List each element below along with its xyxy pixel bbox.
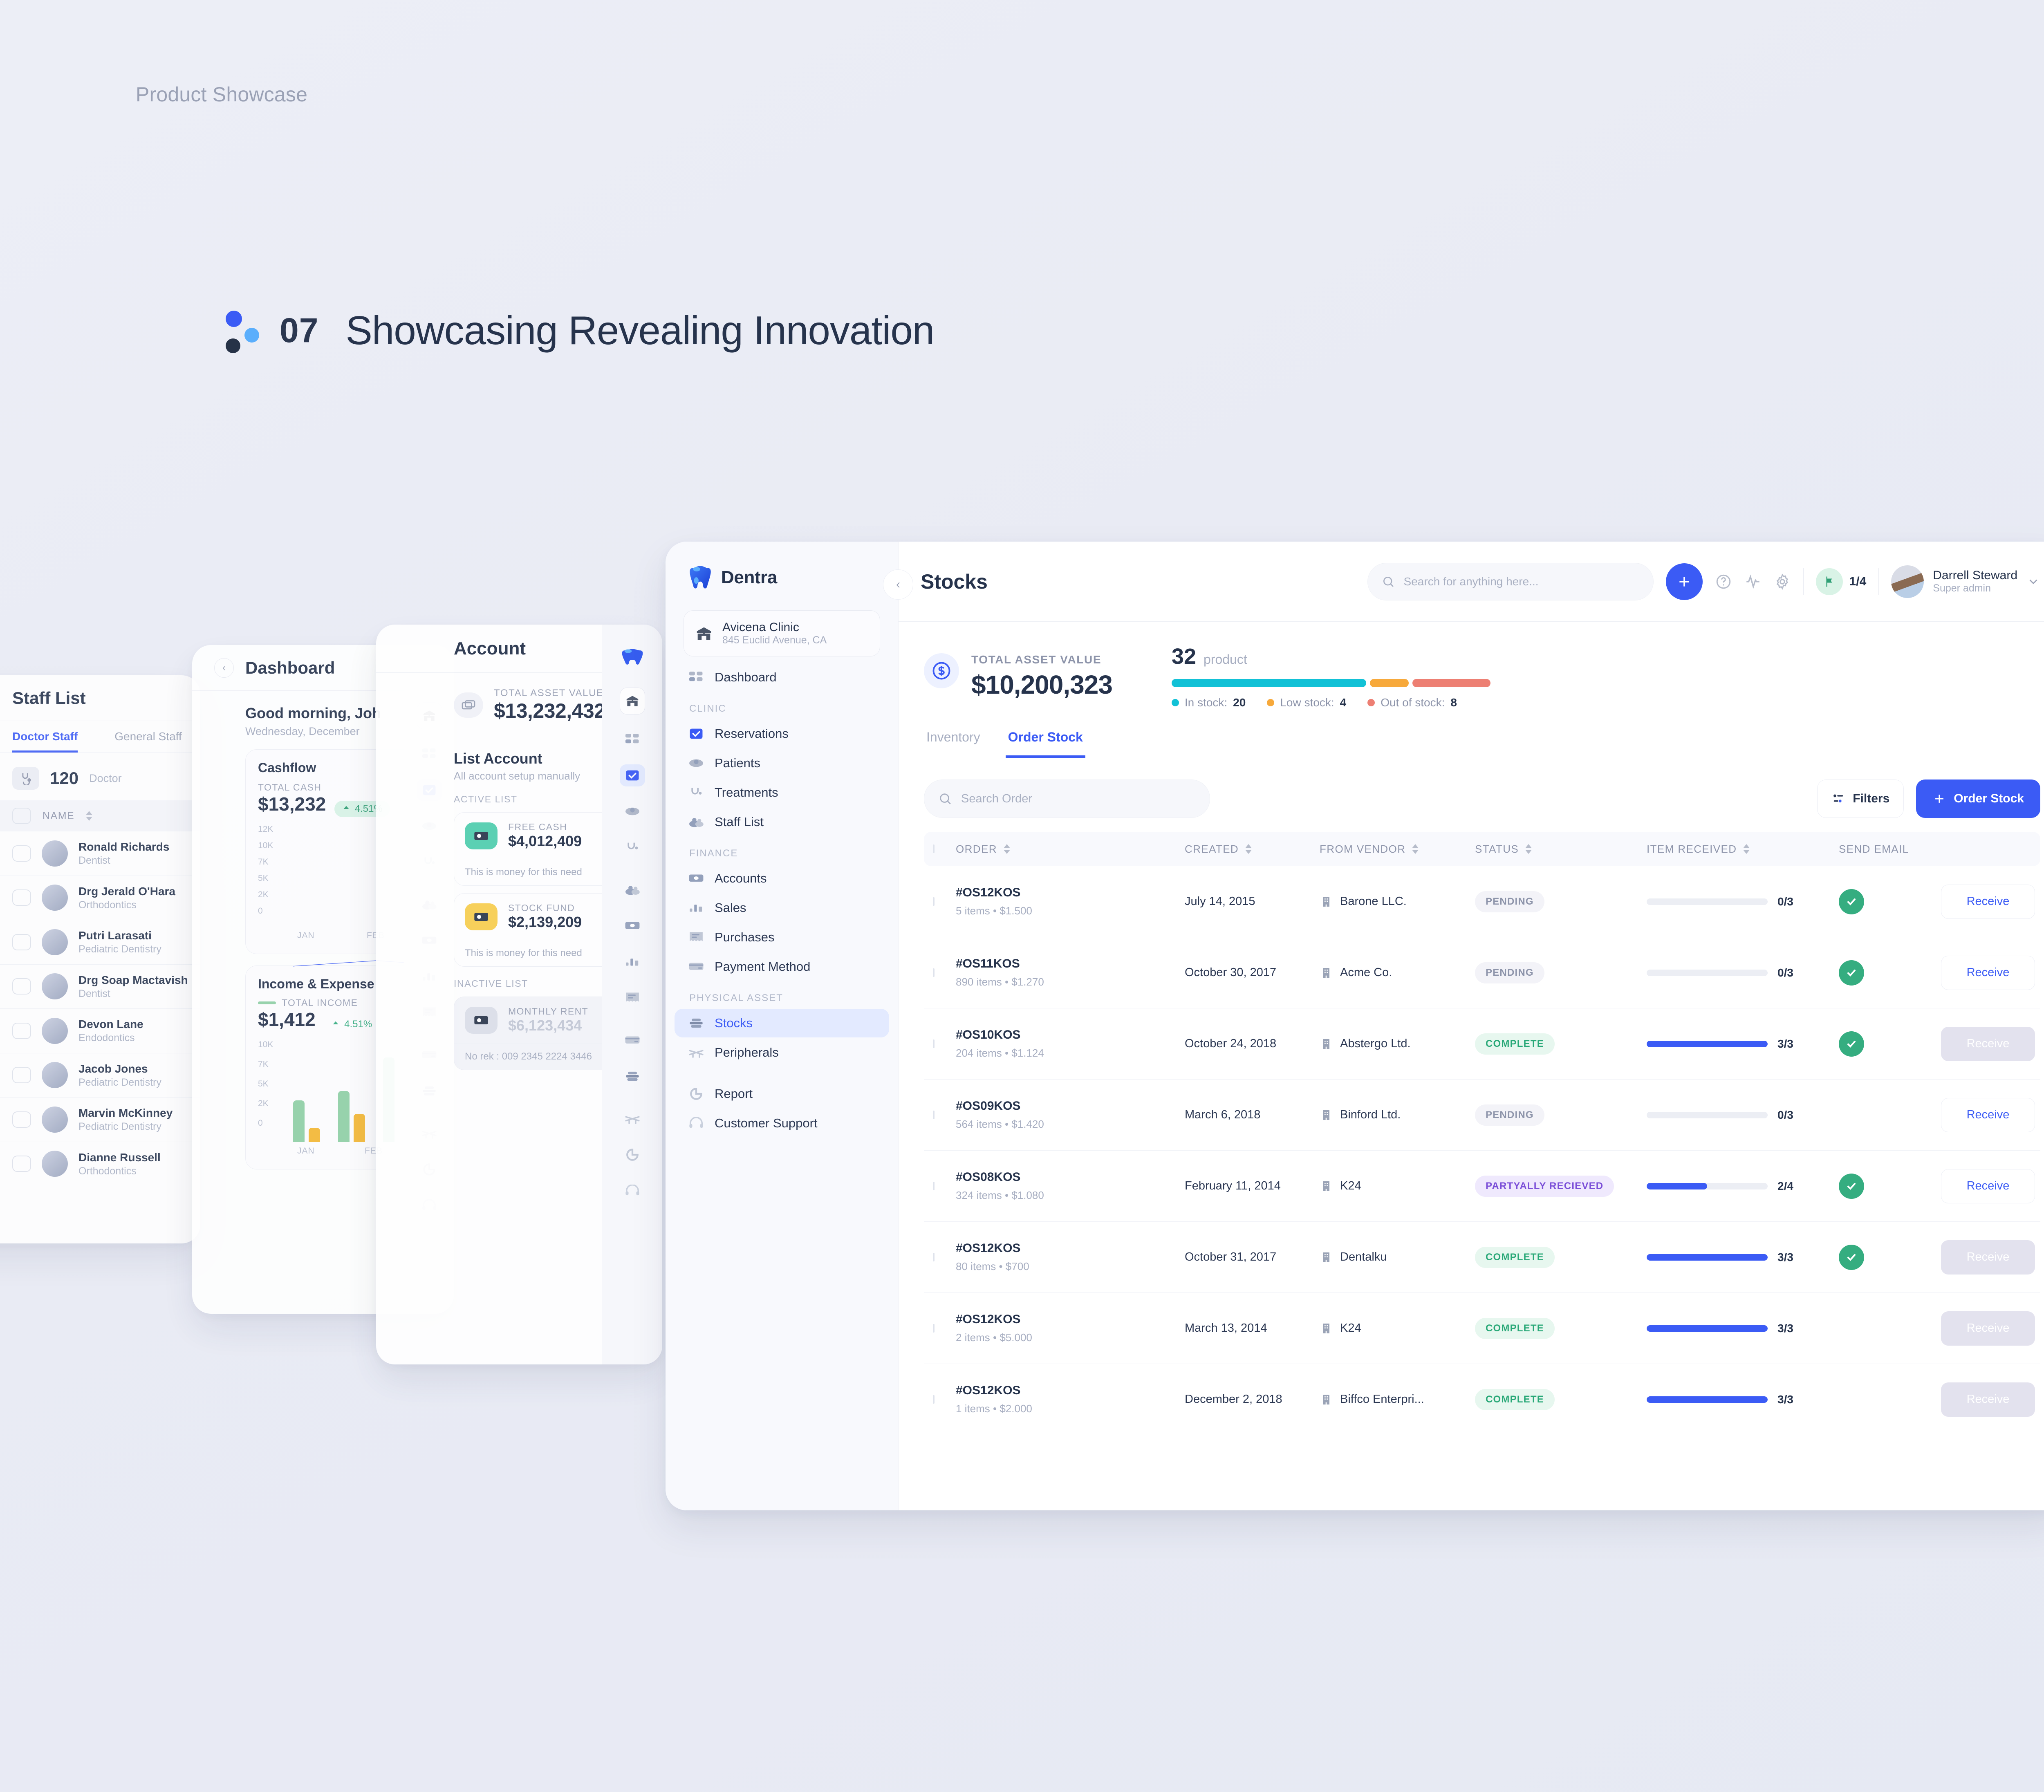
progress-bar bbox=[1647, 970, 1768, 976]
sidebar-item-reservations[interactable]: Reservations bbox=[675, 719, 889, 748]
gear-icon[interactable] bbox=[1774, 573, 1791, 590]
order-search-placeholder: Search Order bbox=[961, 792, 1032, 806]
sidebar-item-label: Staff List bbox=[715, 815, 764, 829]
staff-role: Dentist bbox=[78, 855, 110, 866]
stethoscope-icon bbox=[688, 786, 704, 800]
row-checkbox[interactable] bbox=[933, 1395, 935, 1404]
bar-expense bbox=[354, 1114, 365, 1142]
staff-row[interactable]: Drg Jerald O'Hara Orthodontics bbox=[0, 876, 200, 921]
progress-bar bbox=[1647, 1254, 1768, 1261]
orders-table: ORDER CREATED FROM VENDOR STATUS ITEM RE… bbox=[899, 832, 2044, 1510]
table-row[interactable]: #OS12KOS 2 items • $5.000 March 13, 2014… bbox=[924, 1293, 2040, 1364]
row-checkbox[interactable] bbox=[933, 968, 935, 977]
rail-people-icon[interactable] bbox=[620, 879, 645, 901]
cell-status: COMPLETE bbox=[1475, 1389, 1647, 1410]
cell-created: March 13, 2014 bbox=[1185, 1322, 1320, 1335]
activity-icon[interactable] bbox=[1744, 573, 1762, 590]
topbar-actions: Search for anything here... 1/4 bbox=[1367, 563, 2040, 600]
table-row[interactable]: #OS10KOS 204 items • $1.124 October 24, … bbox=[924, 1008, 2040, 1080]
progress-text: 0/3 bbox=[1777, 1109, 1793, 1122]
column-send-email: SEND EMAIL bbox=[1839, 843, 1941, 856]
column-status[interactable]: STATUS bbox=[1475, 843, 1647, 856]
user-menu[interactable]: Darrell Steward Super admin bbox=[1891, 565, 2040, 598]
staff-card-header: Staff List bbox=[0, 675, 200, 721]
bar-group bbox=[338, 1091, 365, 1142]
legend-value: 4 bbox=[1340, 696, 1347, 709]
rail-dashboard-icon[interactable] bbox=[620, 728, 645, 750]
dollar-circle-icon bbox=[924, 653, 959, 688]
cell-order: #OS12KOS 5 items • $1.500 bbox=[956, 886, 1185, 917]
progress-bar bbox=[1647, 1325, 1768, 1332]
product-unit: product bbox=[1204, 652, 1247, 667]
cell-created: March 6, 2018 bbox=[1185, 1108, 1320, 1122]
brand-dots-icon bbox=[224, 308, 262, 353]
stock-segment bbox=[1172, 679, 1366, 687]
row-checkbox[interactable] bbox=[12, 1023, 31, 1039]
avatar bbox=[42, 840, 68, 867]
legend-dot-icon bbox=[1172, 699, 1179, 706]
progress-text: 3/3 bbox=[1777, 1393, 1793, 1406]
sidebar-item-sales[interactable]: Sales bbox=[675, 894, 889, 922]
staff-row[interactable]: Putri Larasati Pediatric Dentistry bbox=[0, 920, 200, 965]
column-order[interactable]: ORDER bbox=[956, 843, 1185, 856]
row-checkbox[interactable] bbox=[933, 1253, 935, 1261]
pie-chart-icon bbox=[688, 1087, 704, 1101]
staff-count: 120 Doctor bbox=[0, 753, 200, 800]
receive-button[interactable]: Receive bbox=[1941, 1311, 2035, 1346]
select-all-checkbox[interactable] bbox=[12, 808, 31, 824]
vendor-name: Binford Ltd. bbox=[1340, 1108, 1401, 1122]
sidebar-nav: Dashboard CLINIC Reservations Patients T… bbox=[666, 662, 898, 1510]
cell-vendor: Dentalku bbox=[1320, 1250, 1475, 1264]
rail-credit-card-icon[interactable] bbox=[620, 1029, 645, 1051]
product-stats: 32 product In stock: 20 Low stock: 4 Out… bbox=[1142, 644, 1490, 709]
order-id: #OS12KOS bbox=[956, 886, 1185, 900]
y-tick: 5K bbox=[258, 874, 269, 883]
tab-order-stock[interactable]: Order Stock bbox=[1006, 726, 1085, 758]
row-checkbox[interactable] bbox=[933, 1111, 935, 1119]
cell-order: #OS11KOS 890 items • $1.270 bbox=[956, 957, 1185, 988]
cell-status: COMPLETE bbox=[1475, 1318, 1647, 1339]
table-header-row: ORDER CREATED FROM VENDOR STATUS ITEM RE… bbox=[924, 832, 2040, 866]
staff-name: Devon Lane bbox=[78, 1018, 143, 1030]
cell-created: October 31, 2017 bbox=[1185, 1250, 1320, 1264]
person-icon bbox=[688, 756, 704, 770]
row-checkbox[interactable] bbox=[12, 889, 31, 906]
cell-send-email bbox=[1839, 960, 1941, 986]
cell-item-received: 3/3 bbox=[1647, 1393, 1839, 1406]
avatar bbox=[42, 1107, 68, 1133]
stock-legend-item: Low stock: 4 bbox=[1267, 696, 1346, 709]
rail-box-icon[interactable] bbox=[620, 1065, 645, 1087]
flag-counter[interactable]: 1/4 bbox=[1816, 568, 1867, 595]
cell-created: February 11, 2014 bbox=[1185, 1179, 1320, 1193]
nav-divider bbox=[666, 1076, 898, 1076]
total-asset-label: TOTAL ASSET VALUE bbox=[971, 653, 1101, 666]
receive-button[interactable]: Receive bbox=[1941, 1098, 2035, 1132]
income-value: $1,412 bbox=[258, 1009, 316, 1030]
table-row[interactable]: #OS12KOS 1 items • $2.000 December 2, 20… bbox=[924, 1364, 2040, 1435]
order-sub: 204 items • $1.124 bbox=[956, 1047, 1185, 1060]
status-badge: PENDING bbox=[1475, 891, 1544, 912]
y-tick: 10K bbox=[258, 1040, 273, 1050]
calendar-check-icon bbox=[688, 727, 704, 741]
row-checkbox[interactable] bbox=[12, 1111, 31, 1128]
cell-created: December 2, 2018 bbox=[1185, 1393, 1320, 1406]
cell-item-received: 0/3 bbox=[1647, 895, 1839, 908]
progress-text: 3/3 bbox=[1777, 1251, 1793, 1264]
sidebar-item-patients[interactable]: Patients bbox=[675, 749, 889, 777]
nav-section-label: FINANCE bbox=[666, 837, 898, 863]
building-icon bbox=[1320, 1109, 1333, 1122]
staff-row[interactable]: Dianne Russell Orthodontics bbox=[0, 1142, 200, 1187]
row-checkbox[interactable] bbox=[12, 845, 31, 862]
sidebar-item-label: Peripherals bbox=[715, 1045, 779, 1060]
clinic-selector[interactable]: Avicena Clinic 845 Euclid Avenue, CA bbox=[684, 610, 880, 656]
legend-dot-icon bbox=[1367, 699, 1375, 706]
sort-icon[interactable] bbox=[1004, 844, 1010, 854]
staff-role: Endodontics bbox=[78, 1032, 135, 1044]
plus-icon bbox=[1932, 792, 1946, 806]
email-sent-check-icon bbox=[1839, 1245, 1864, 1270]
staff-row[interactable]: Devon Lane Endodontics bbox=[0, 1009, 200, 1053]
cell-item-received: 3/3 bbox=[1647, 1322, 1839, 1335]
table-row[interactable]: #OS11KOS 890 items • $1.270 October 30, … bbox=[924, 937, 2040, 1008]
vendor-name: Dentalku bbox=[1340, 1250, 1387, 1264]
sidebar-item-label: Sales bbox=[715, 900, 746, 915]
staff-role: Pediatric Dentistry bbox=[78, 1077, 161, 1088]
account-card: Account TOTAL ASSET VALUE $13,232,432 Li… bbox=[376, 625, 662, 1364]
sidebar-item-label: Accounts bbox=[715, 871, 767, 886]
sidebar-item-customer-support[interactable]: Customer Support bbox=[675, 1109, 889, 1138]
cell-order: #OS10KOS 204 items • $1.124 bbox=[956, 1028, 1185, 1060]
progress-bar bbox=[1647, 1183, 1768, 1189]
row-checkbox[interactable] bbox=[933, 1324, 935, 1333]
vendor-name: Acme Co. bbox=[1340, 966, 1392, 979]
cell-item-received: 3/3 bbox=[1647, 1037, 1839, 1051]
cell-vendor: Acme Co. bbox=[1320, 966, 1475, 979]
account-item-label: STOCK FUND bbox=[508, 903, 575, 913]
staff-role: Orthodontics bbox=[78, 1165, 137, 1177]
sidebar-item-label: Payment Method bbox=[715, 959, 810, 974]
sidebar-item-purchases[interactable]: Purchases bbox=[675, 923, 889, 952]
staff-role: Orthodontics bbox=[78, 899, 137, 911]
global-search-placeholder: Search for anything here... bbox=[1404, 575, 1539, 588]
cell-created: July 14, 2015 bbox=[1185, 895, 1320, 908]
sidebar-item-stocks[interactable]: Stocks bbox=[675, 1009, 889, 1037]
order-sub: 2 items • $5.000 bbox=[956, 1331, 1185, 1344]
table-row[interactable]: #OS09KOS 564 items • $1.420 March 6, 201… bbox=[924, 1080, 2040, 1151]
y-tick: 2K bbox=[258, 890, 269, 900]
staff-count-value: 120 bbox=[50, 768, 78, 788]
receive-button[interactable]: Receive bbox=[1941, 1027, 2035, 1061]
order-sub: 324 items • $1.080 bbox=[956, 1189, 1185, 1202]
receive-button[interactable]: Receive bbox=[1941, 1382, 2035, 1417]
column-item-received[interactable]: ITEM RECEIVED bbox=[1647, 843, 1839, 856]
building-icon bbox=[1320, 895, 1333, 908]
global-search-input[interactable]: Search for anything here... bbox=[1367, 563, 1654, 600]
status-badge: PARTYALLY RECIEVED bbox=[1475, 1176, 1614, 1197]
vendor-name: Barone LLC. bbox=[1340, 895, 1407, 908]
staff-row[interactable]: Jacob Jones Pediatric Dentistry bbox=[0, 1053, 200, 1098]
order-sub: 80 items • $700 bbox=[956, 1260, 1185, 1273]
sidebar-item-label: Dashboard bbox=[715, 670, 777, 685]
rail-headset-icon[interactable] bbox=[620, 1180, 645, 1202]
cell-vendor: Biffco Enterpri... bbox=[1320, 1393, 1475, 1406]
staff-row[interactable]: Marvin McKinney Pediatric Dentistry bbox=[0, 1098, 200, 1142]
legend-label: Low stock: bbox=[1280, 696, 1334, 709]
order-id: #OS12KOS bbox=[956, 1241, 1185, 1255]
table-row[interactable]: #OS08KOS 324 items • $1.080 February 11,… bbox=[924, 1151, 2040, 1222]
dentra-app-window: Dentra Avicena Clinic 845 Euclid Avenue,… bbox=[666, 542, 2044, 1510]
column-vendor[interactable]: FROM VENDOR bbox=[1320, 843, 1475, 856]
avatar bbox=[42, 1062, 68, 1088]
staff-name: Marvin McKinney bbox=[78, 1107, 173, 1119]
staff-count-label: Doctor bbox=[89, 772, 122, 785]
avatar bbox=[42, 1151, 68, 1177]
building-icon bbox=[1320, 1251, 1333, 1264]
cell-item-received: 0/3 bbox=[1647, 966, 1839, 979]
email-sent-check-icon bbox=[1839, 960, 1864, 986]
order-sub: 564 items • $1.420 bbox=[956, 1118, 1185, 1131]
stock-legend-item: Out of stock: 8 bbox=[1367, 696, 1457, 709]
avatar bbox=[42, 885, 68, 911]
dental-chair-icon bbox=[688, 1046, 704, 1059]
tab-doctor-staff[interactable]: Doctor Staff bbox=[12, 730, 78, 753]
cell-created: October 24, 2018 bbox=[1185, 1037, 1320, 1051]
chevron-down-icon[interactable] bbox=[2026, 575, 2040, 589]
stock-segment bbox=[1370, 679, 1409, 687]
cell-created: October 30, 2017 bbox=[1185, 966, 1320, 979]
collapse-sidebar-icon[interactable]: ‹ bbox=[883, 569, 913, 600]
row-checkbox[interactable] bbox=[12, 934, 31, 950]
progress-bar bbox=[1647, 1112, 1768, 1118]
legend-value: 20 bbox=[1233, 696, 1246, 709]
staff-name: Jacob Jones bbox=[78, 1062, 148, 1075]
account-item-label: FREE CASH bbox=[508, 822, 567, 832]
rail-stethoscope-icon[interactable] bbox=[620, 836, 645, 858]
progress-bar bbox=[1647, 1041, 1768, 1047]
avatar bbox=[42, 1018, 68, 1044]
sidebar-item-label: Treatments bbox=[715, 785, 778, 800]
flag-count: 1/4 bbox=[1849, 575, 1867, 589]
x-tick: JAN bbox=[297, 1146, 315, 1156]
row-checkbox[interactable] bbox=[933, 1039, 935, 1048]
select-all-checkbox[interactable] bbox=[933, 844, 935, 853]
stock-legend-item: In stock: 20 bbox=[1172, 696, 1246, 709]
sort-icon[interactable] bbox=[1412, 844, 1419, 854]
account-item-label: MONTHLY RENT bbox=[508, 1006, 588, 1017]
vendor-name: K24 bbox=[1340, 1322, 1361, 1335]
email-sent-check-icon bbox=[1839, 1174, 1864, 1199]
sidebar-item-report[interactable]: Report bbox=[675, 1080, 889, 1108]
building-icon bbox=[1320, 1037, 1333, 1051]
staff-row[interactable]: Drg Soap Mactavish Dentist bbox=[0, 965, 200, 1009]
sidebar-item-treatments[interactable]: Treatments bbox=[675, 778, 889, 807]
dashboard-card-title: Dashboard bbox=[245, 658, 335, 678]
stock-segment bbox=[1412, 679, 1490, 687]
dashboard-back-chevron-icon[interactable]: ‹ bbox=[214, 658, 234, 678]
legend-swatch-icon bbox=[258, 1001, 276, 1004]
order-id: #OS12KOS bbox=[956, 1384, 1185, 1398]
rail-calendar-check-icon[interactable] bbox=[620, 764, 645, 786]
building-icon bbox=[1320, 1393, 1333, 1406]
cell-status: PENDING bbox=[1475, 891, 1647, 912]
account-item-value: $2,139,209 bbox=[508, 914, 582, 930]
building-icon bbox=[1320, 1322, 1333, 1335]
rail-person-icon[interactable] bbox=[620, 800, 645, 822]
row-checkbox[interactable] bbox=[933, 1182, 935, 1190]
sidebar-item-label: Patients bbox=[715, 756, 760, 771]
rail-bar-chart-icon[interactable] bbox=[620, 951, 645, 973]
box-icon bbox=[688, 1017, 704, 1029]
table-row[interactable]: #OS12KOS 5 items • $1.500 July 14, 2015 … bbox=[924, 866, 2040, 937]
status-badge: COMPLETE bbox=[1475, 1033, 1555, 1055]
cell-order: #OS09KOS 564 items • $1.420 bbox=[956, 1099, 1185, 1131]
staff-role: Pediatric Dentistry bbox=[78, 943, 161, 955]
bar-group bbox=[293, 1100, 320, 1142]
staff-role: Pediatric Dentistry bbox=[78, 1121, 161, 1132]
y-tick: 0 bbox=[258, 906, 263, 916]
staff-row[interactable]: Ronald Richards Dentist bbox=[0, 831, 200, 876]
page-title: Stocks bbox=[921, 570, 988, 594]
status-badge: COMPLETE bbox=[1475, 1318, 1555, 1339]
row-checkbox[interactable] bbox=[933, 897, 935, 906]
add-button[interactable] bbox=[1666, 563, 1703, 600]
y-tick: 7K bbox=[258, 857, 269, 867]
bar-chart-icon bbox=[688, 902, 704, 914]
sidebar-item-staff-list[interactable]: Staff List bbox=[675, 808, 889, 836]
tab-inventory[interactable]: Inventory bbox=[924, 726, 983, 758]
bar-expense bbox=[309, 1128, 320, 1142]
sort-icon[interactable] bbox=[1245, 844, 1252, 854]
content-area: ‹ Stocks Search for anything here... bbox=[899, 542, 2044, 1510]
nav-section-label: PHYSICAL ASSET bbox=[666, 982, 898, 1008]
sort-icon[interactable] bbox=[1743, 844, 1750, 854]
cell-status: COMPLETE bbox=[1475, 1033, 1647, 1055]
staff-table-header: NAME bbox=[0, 800, 200, 831]
stock-distribution-bar bbox=[1172, 679, 1490, 687]
income-legend-label: TOTAL INCOME bbox=[282, 997, 358, 1008]
row-checkbox[interactable] bbox=[12, 1067, 31, 1083]
row-checkbox[interactable] bbox=[12, 1156, 31, 1172]
building-icon bbox=[1320, 1180, 1333, 1193]
sidebar: Dentra Avicena Clinic 845 Euclid Avenue,… bbox=[666, 542, 899, 1510]
filters-label: Filters bbox=[1853, 792, 1889, 806]
filters-button[interactable]: Filters bbox=[1817, 780, 1904, 818]
table-row[interactable]: #OS12KOS 80 items • $700 October 31, 201… bbox=[924, 1222, 2040, 1293]
progress-text: 3/3 bbox=[1777, 1037, 1793, 1051]
receive-button[interactable]: Receive bbox=[1941, 1169, 2035, 1203]
cell-vendor: K24 bbox=[1320, 1322, 1475, 1335]
rail-hospital-icon[interactable] bbox=[620, 688, 645, 715]
progress-text: 0/3 bbox=[1777, 895, 1793, 908]
headset-icon bbox=[688, 1117, 704, 1129]
slide-headline: Showcasing Revealing Innovation bbox=[345, 307, 934, 354]
money-icon bbox=[454, 692, 483, 718]
y-tick: 12K bbox=[258, 824, 273, 834]
x-tick: JAN bbox=[297, 931, 315, 941]
help-icon[interactable] bbox=[1715, 573, 1732, 590]
total-asset-value: $10,200,323 bbox=[971, 670, 1112, 700]
rail-pie-chart-icon[interactable] bbox=[620, 1144, 645, 1166]
nav-section-label: CLINIC bbox=[666, 692, 898, 719]
wallet-icon bbox=[688, 873, 704, 884]
receive-button[interactable]: Receive bbox=[1941, 1240, 2035, 1275]
status-badge: COMPLETE bbox=[1475, 1389, 1555, 1410]
y-tick: 2K bbox=[258, 1099, 269, 1109]
section-tabs: Inventory Order Stock bbox=[899, 726, 2044, 758]
dentra-tooth-logo-icon bbox=[688, 564, 712, 591]
cell-item-received: 2/4 bbox=[1647, 1180, 1839, 1193]
credit-card-icon bbox=[688, 961, 704, 972]
receive-button[interactable]: Receive bbox=[1941, 885, 2035, 919]
brand-name: Dentra bbox=[721, 567, 777, 588]
sidebar-item-peripherals[interactable]: Peripherals bbox=[675, 1038, 889, 1067]
account-icon-rail bbox=[602, 625, 662, 1364]
product-count: 32 bbox=[1172, 644, 1196, 669]
column-created[interactable]: CREATED bbox=[1185, 843, 1320, 856]
order-stock-button[interactable]: Order Stock bbox=[1916, 780, 2040, 818]
rail-receipt-icon[interactable] bbox=[620, 987, 645, 1009]
clinic-name: Avicena Clinic bbox=[722, 620, 799, 634]
cell-item-received: 0/3 bbox=[1647, 1109, 1839, 1122]
y-tick: 7K bbox=[258, 1060, 269, 1069]
staff-name: Ronald Richards bbox=[78, 840, 169, 853]
staff-name: Drg Soap Mactavish bbox=[78, 974, 188, 986]
row-checkbox[interactable] bbox=[12, 978, 31, 995]
order-search-input[interactable]: Search Order bbox=[924, 780, 1210, 818]
cell-vendor: Barone LLC. bbox=[1320, 895, 1475, 908]
cell-status: PENDING bbox=[1475, 962, 1647, 983]
sidebar-item-payment-method[interactable]: Payment Method bbox=[675, 952, 889, 981]
order-id: #OS08KOS bbox=[956, 1170, 1185, 1184]
order-sub: 1 items • $2.000 bbox=[956, 1402, 1185, 1415]
progress-text: 0/3 bbox=[1777, 966, 1793, 979]
order-stock-label: Order Stock bbox=[1954, 792, 2024, 806]
sort-icon[interactable] bbox=[86, 811, 92, 821]
order-id: #OS12KOS bbox=[956, 1313, 1185, 1326]
sidebar-item-label: Report bbox=[715, 1086, 753, 1101]
legend-value: 8 bbox=[1450, 696, 1457, 709]
staff-card-title: Staff List bbox=[12, 688, 86, 708]
stock-legend: In stock: 20 Low stock: 4 Out of stock: … bbox=[1172, 696, 1490, 709]
rail-wallet-icon[interactable] bbox=[620, 915, 645, 937]
cell-order: #OS08KOS 324 items • $1.080 bbox=[956, 1170, 1185, 1202]
vendor-name: Biffco Enterpri... bbox=[1340, 1393, 1424, 1406]
account-item-value: $6,123,434 bbox=[508, 1017, 582, 1034]
sort-icon[interactable] bbox=[1525, 844, 1532, 854]
y-tick: 10K bbox=[258, 841, 273, 851]
cell-status: PENDING bbox=[1475, 1104, 1647, 1126]
brand[interactable]: Dentra bbox=[666, 542, 898, 603]
order-id: #OS11KOS bbox=[956, 957, 1185, 971]
receive-button[interactable]: Receive bbox=[1941, 956, 2035, 990]
staff-role: Dentist bbox=[78, 988, 110, 999]
sidebar-item-dashboard[interactable]: Dashboard bbox=[675, 663, 889, 692]
progress-bar bbox=[1647, 898, 1768, 905]
receipt-icon bbox=[688, 931, 704, 944]
cell-order: #OS12KOS 1 items • $2.000 bbox=[956, 1384, 1185, 1415]
divider bbox=[1803, 568, 1804, 595]
sidebar-item-label: Reservations bbox=[715, 726, 789, 741]
sidebar-item-accounts[interactable]: Accounts bbox=[675, 864, 889, 893]
tab-general-staff[interactable]: General Staff bbox=[114, 730, 182, 753]
staff-name: Drg Jerald O'Hara bbox=[78, 885, 175, 898]
cell-send-email bbox=[1839, 889, 1941, 914]
rail-dental-chair-icon[interactable] bbox=[620, 1108, 645, 1130]
staff-name: Putri Larasati bbox=[78, 929, 152, 942]
